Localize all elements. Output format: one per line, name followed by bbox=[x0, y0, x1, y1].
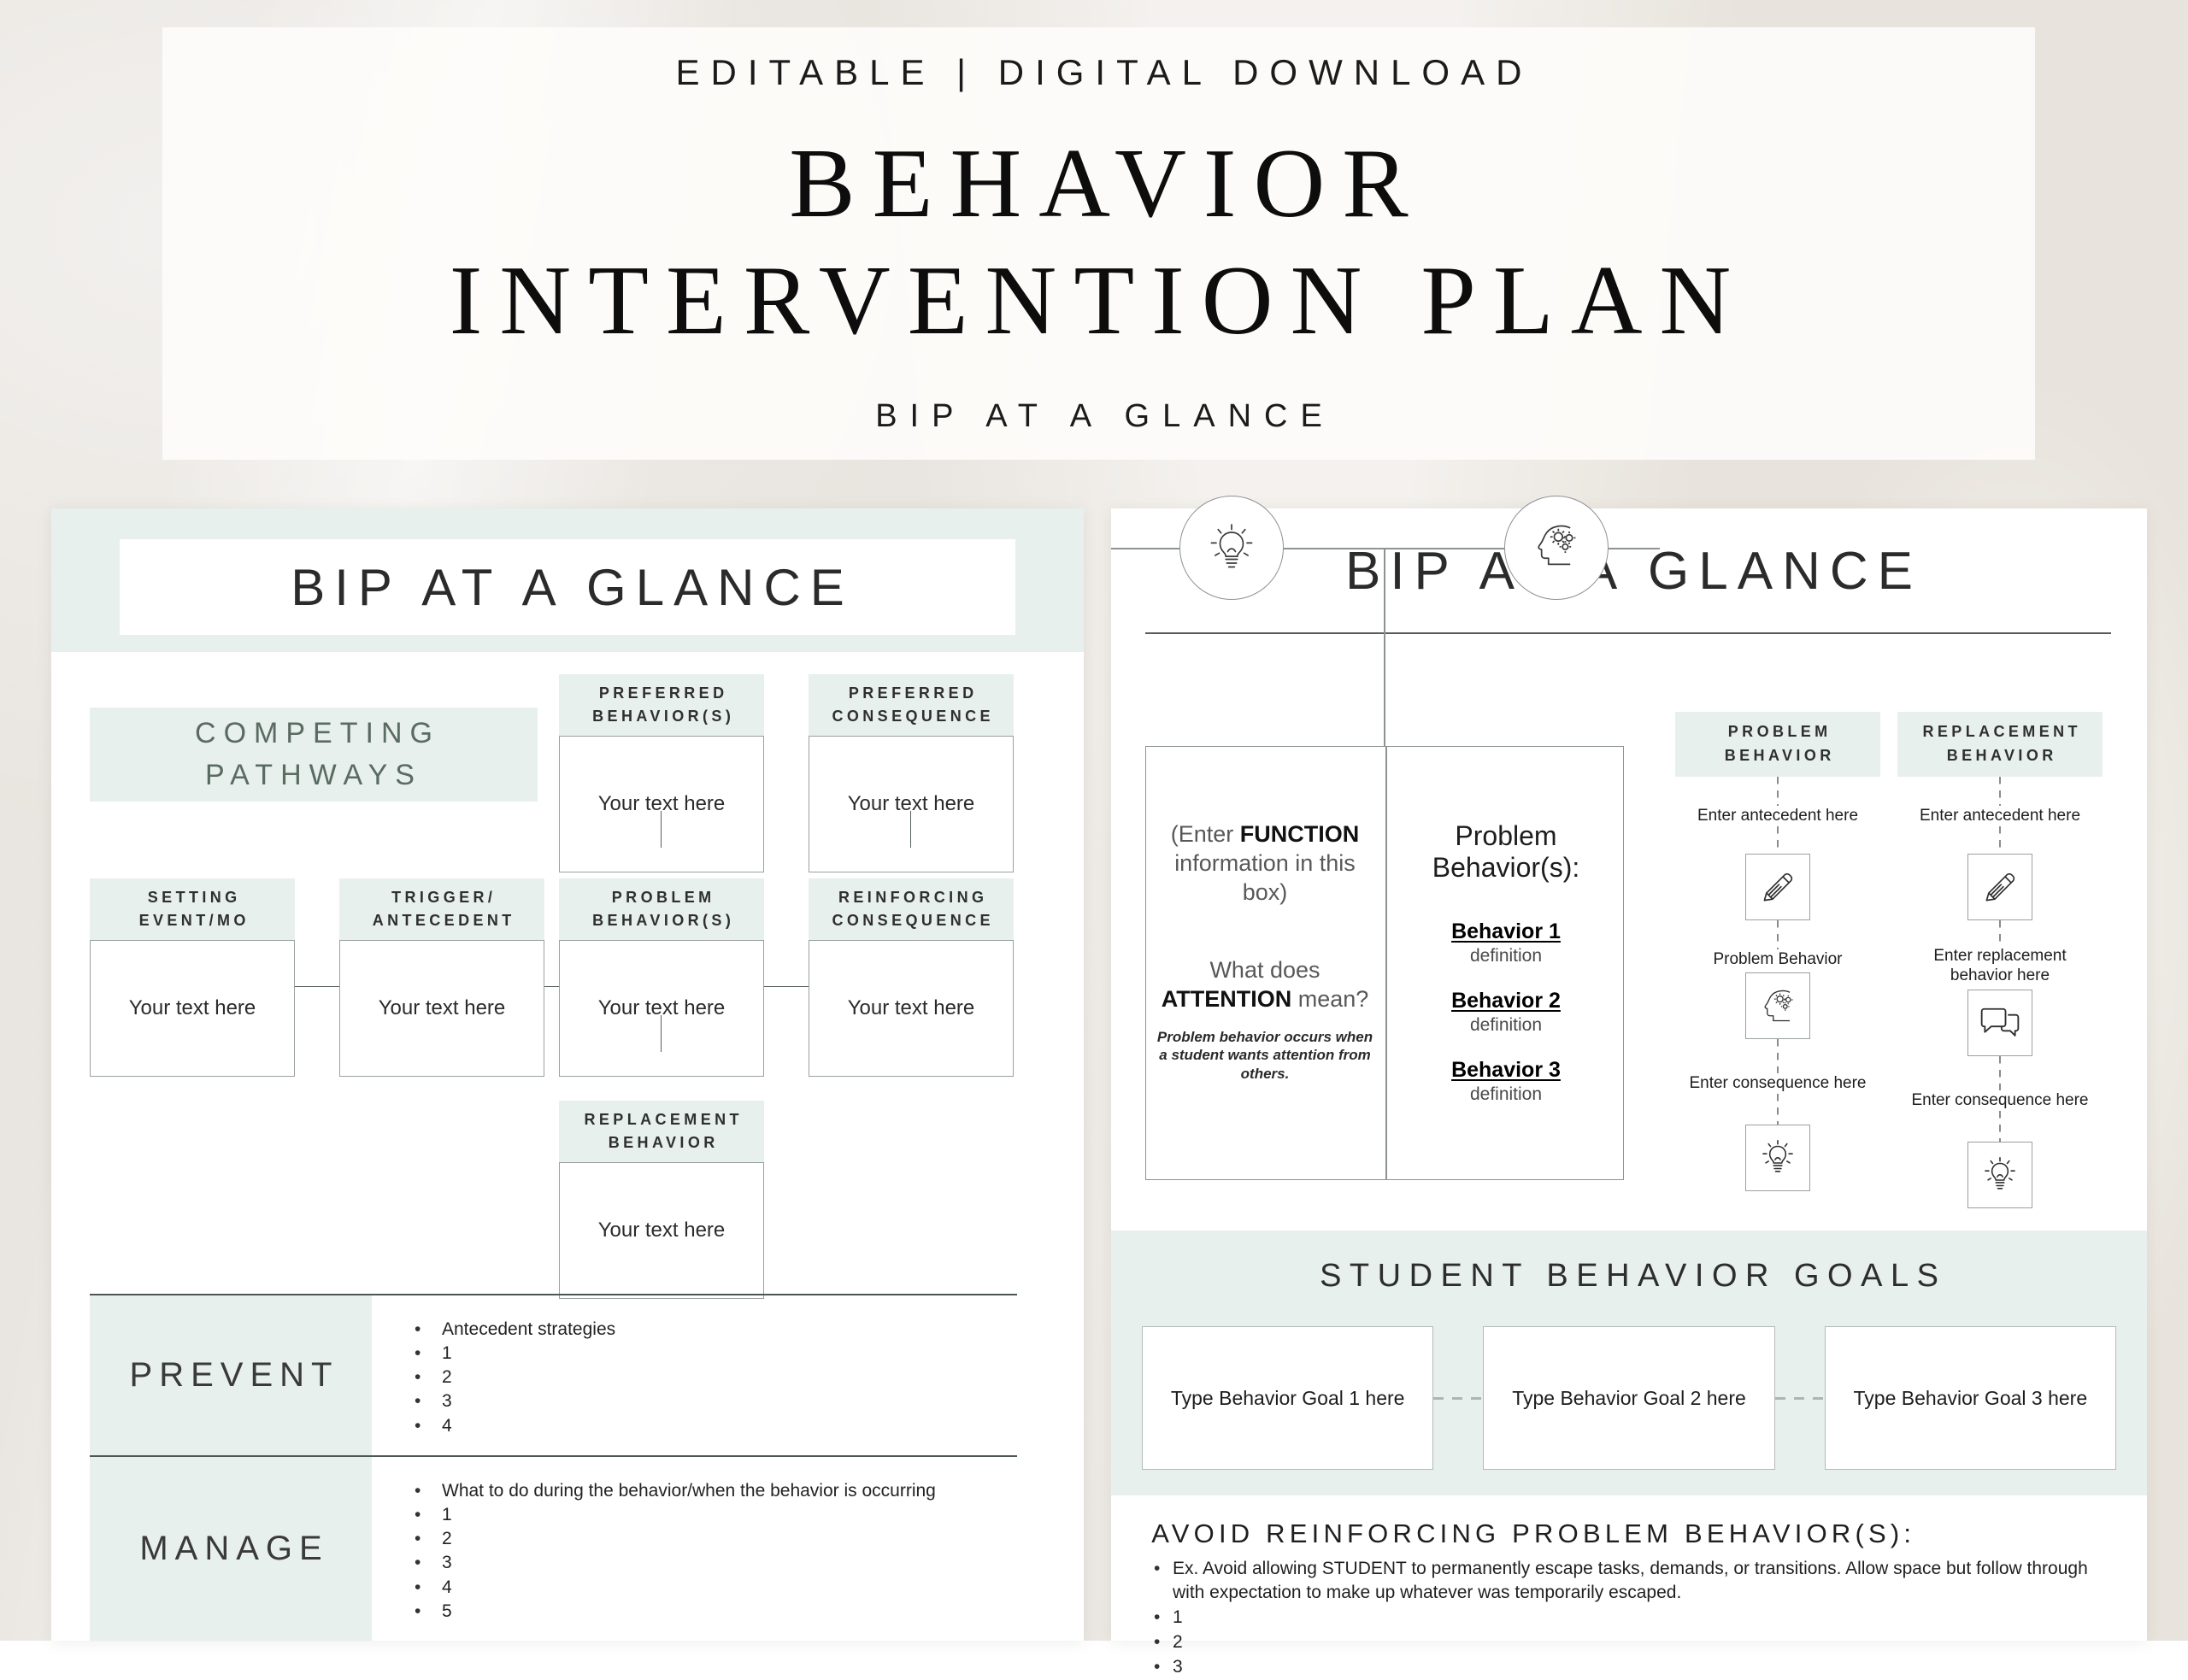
list-item[interactable]: 2 bbox=[408, 1527, 936, 1551]
behavior-name: Behavior 1 bbox=[1397, 919, 1615, 944]
problem-behaviors-heading: Problem Behavior(s): bbox=[1397, 820, 1615, 884]
function-prompt: (Enter FUNCTION information in this box) bbox=[1156, 820, 1373, 907]
function-prompt-pre: (Enter bbox=[1171, 821, 1240, 847]
pencil-icon bbox=[1745, 854, 1810, 920]
list-item[interactable]: 4 bbox=[408, 1414, 615, 1438]
list-item[interactable]: 1 bbox=[408, 1503, 936, 1527]
avoid-heading: AVOID REINFORCING PROBLEM BEHAVIOR(S): bbox=[1147, 1518, 2113, 1549]
goal-connector-dash bbox=[1433, 1397, 1483, 1400]
track-step[interactable]: Enter replacement behavior here bbox=[1897, 946, 2103, 987]
speech-bubbles-icon bbox=[1967, 990, 2032, 1056]
left-page-body: COMPETING PATHWAYS PREFERRED BEHAVIOR(S)… bbox=[51, 652, 1084, 1641]
panel-top-stem bbox=[1384, 548, 1385, 746]
left-page-title: BIP AT A GLANCE bbox=[281, 558, 854, 617]
preferred-behaviors-input[interactable]: Your text here bbox=[559, 736, 764, 872]
replacement-behavior-track: REPLACEMENT BEHAVIOR Enter antecedent he… bbox=[1897, 712, 2103, 1208]
preferred-consequence-input[interactable]: Your text here bbox=[809, 736, 1014, 872]
setting-event-caption: SETTING EVENT/MO bbox=[90, 878, 295, 940]
behavior-entry[interactable]: Behavior 3 definition bbox=[1397, 1058, 1615, 1105]
pencil-icon bbox=[1967, 854, 2032, 920]
behavior-entry[interactable]: Behavior 1 definition bbox=[1397, 919, 1615, 966]
dash-5 bbox=[1999, 1111, 2001, 1142]
list-item[interactable]: 3 bbox=[1147, 1655, 2113, 1679]
dash-1 bbox=[1999, 777, 2001, 806]
lightbulb-icon bbox=[1179, 496, 1284, 600]
avoid-list: Ex. Avoid allowing STUDENT to permanentl… bbox=[1147, 1557, 2113, 1679]
behavior-definition: definition bbox=[1397, 1015, 1615, 1036]
connector-trigger-to-problem bbox=[544, 986, 559, 987]
panel-center-arm bbox=[1284, 548, 1504, 549]
behavior-name: Behavior 2 bbox=[1397, 989, 1615, 1013]
left-page-title-bar: BIP AT A GLANCE bbox=[120, 539, 1015, 635]
dash-5 bbox=[1777, 1094, 1779, 1125]
avoid-reinforcing-section: AVOID REINFORCING PROBLEM BEHAVIOR(S): E… bbox=[1147, 1518, 2113, 1680]
connector-prefcons-to-reinf bbox=[910, 811, 911, 848]
trigger-antecedent-caption: TRIGGER/ ANTECEDENT bbox=[339, 878, 544, 940]
replacement-behavior-caption: REPLACEMENT BEHAVIOR bbox=[559, 1101, 764, 1162]
list-item: Ex. Avoid allowing STUDENT to permanentl… bbox=[1147, 1557, 2113, 1605]
prevent-label: PREVENT bbox=[90, 1295, 372, 1455]
function-note: Problem behavior occurs when a student w… bbox=[1156, 1028, 1373, 1083]
problem-behaviors-input[interactable]: Your text here bbox=[559, 940, 764, 1077]
panel-left-arm bbox=[1111, 548, 1179, 549]
behavior-entry[interactable]: Behavior 2 definition bbox=[1397, 989, 1615, 1036]
question-post: mean? bbox=[1291, 986, 1368, 1012]
right-page-rule bbox=[1145, 632, 2111, 634]
lightbulb-icon bbox=[1967, 1142, 2032, 1208]
panel-right-arm bbox=[1609, 548, 1660, 549]
banner-title: BEHAVIOR INTERVENTION PLAN bbox=[450, 126, 1749, 360]
behavior-definition: definition bbox=[1397, 1084, 1615, 1105]
list-item[interactable]: 2 bbox=[1147, 1630, 2113, 1654]
title-banner: EDITABLE | DIGITAL DOWNLOAD BEHAVIOR INT… bbox=[162, 27, 2035, 460]
connector-problem-to-reinforce bbox=[764, 986, 809, 987]
reinforcing-consequence-box[interactable]: REINFORCING CONSEQUENCE Your text here bbox=[809, 878, 1014, 1077]
function-prompt-post: information in this box) bbox=[1174, 850, 1356, 905]
track-step[interactable]: Enter consequence here bbox=[1897, 1090, 2103, 1111]
function-question: What does ATTENTION mean? bbox=[1156, 956, 1373, 1014]
preferred-consequence-caption: PREFERRED CONSEQUENCE bbox=[809, 674, 1014, 736]
function-behavior-panel: (Enter FUNCTION information in this box)… bbox=[1145, 746, 1624, 1180]
list-item[interactable]: 2 bbox=[408, 1366, 615, 1389]
list-item: Antecedent strategies bbox=[408, 1318, 615, 1342]
competing-pathways-label: COMPETING PATHWAYS bbox=[187, 713, 440, 797]
reinforcing-consequence-caption: REINFORCING CONSEQUENCE bbox=[809, 878, 1014, 940]
prevent-row: PREVENT Antecedent strategies 1 2 3 4 bbox=[90, 1295, 1017, 1455]
preferred-behaviors-caption: PREFERRED BEHAVIOR(S) bbox=[559, 674, 764, 736]
question-keyword: ATTENTION bbox=[1162, 986, 1291, 1012]
trigger-antecedent-box[interactable]: TRIGGER/ ANTECEDENT Your text here bbox=[339, 878, 544, 1077]
goals-row: Type Behavior Goal 1 here Type Behavior … bbox=[1142, 1326, 2116, 1470]
track-step[interactable]: Problem Behavior bbox=[1675, 949, 1880, 970]
connector-prefbeh-to-problem bbox=[661, 811, 662, 848]
dash-2 bbox=[1777, 826, 1779, 854]
list-item[interactable]: 3 bbox=[408, 1551, 936, 1575]
list-item: What to do during the behavior/when the … bbox=[408, 1479, 936, 1503]
connector-setting-to-trigger bbox=[295, 986, 339, 987]
dash-2 bbox=[1999, 826, 2001, 854]
list-item[interactable]: 5 bbox=[408, 1600, 936, 1624]
replacement-behavior-input[interactable]: Your text here bbox=[559, 1162, 764, 1299]
manage-label: MANAGE bbox=[90, 1457, 372, 1641]
manage-list: What to do during the behavior/when the … bbox=[408, 1479, 936, 1624]
prevent-list: Antecedent strategies 1 2 3 4 bbox=[408, 1318, 615, 1438]
replacement-behavior-track-header: REPLACEMENT BEHAVIOR bbox=[1897, 712, 2103, 777]
right-page: BIP AT A GLANCE (Enter FUNCTION informat… bbox=[1111, 508, 2147, 1641]
function-keyword: FUNCTION bbox=[1240, 821, 1359, 847]
replacement-behavior-box[interactable]: REPLACEMENT BEHAVIOR Your text here bbox=[559, 1101, 764, 1299]
competing-pathways-heading: COMPETING PATHWAYS bbox=[90, 708, 538, 802]
list-item[interactable]: 3 bbox=[408, 1389, 615, 1413]
connector-problem-to-replace bbox=[661, 1015, 662, 1052]
banner-eyebrow: EDITABLE | DIGITAL DOWNLOAD bbox=[665, 52, 1533, 93]
track-step[interactable]: Enter consequence here bbox=[1675, 1073, 1880, 1094]
dash-4 bbox=[1999, 1056, 2001, 1090]
dash-4 bbox=[1777, 1039, 1779, 1073]
problem-behavior-track-header: PROBLEM BEHAVIOR bbox=[1675, 712, 1880, 777]
list-item[interactable]: 1 bbox=[408, 1342, 615, 1366]
problem-behavior-track: PROBLEM BEHAVIOR Enter antecedent here P… bbox=[1675, 712, 1880, 1191]
track-step[interactable]: Enter antecedent here bbox=[1675, 806, 1880, 826]
problem-behaviors-caption: PROBLEM BEHAVIOR(S) bbox=[559, 878, 764, 940]
dash-1 bbox=[1777, 777, 1779, 806]
goals-title: STUDENT BEHAVIOR GOALS bbox=[1111, 1231, 2147, 1295]
problem-behaviors-column: Problem Behavior(s): Behavior 1 definiti… bbox=[1387, 820, 1625, 1105]
setting-event-input[interactable]: Your text here bbox=[90, 940, 295, 1077]
list-item[interactable]: 1 bbox=[1147, 1606, 2113, 1630]
banner-subtitle: BIP AT A GLANCE bbox=[862, 398, 1335, 435]
goal-card[interactable]: Type Behavior Goal 2 here bbox=[1483, 1326, 1774, 1470]
dash-3 bbox=[1999, 920, 2001, 946]
question-pre: What does bbox=[1209, 957, 1320, 983]
lightbulb-icon bbox=[1745, 1125, 1810, 1191]
trigger-antecedent-input[interactable]: Your text here bbox=[339, 940, 544, 1077]
left-page: BIP AT A GLANCE COMPETING PATHWAYS PREFE… bbox=[51, 508, 1084, 1641]
reinforcing-consequence-input[interactable]: Your text here bbox=[809, 940, 1014, 1077]
head-gears-icon bbox=[1504, 496, 1609, 600]
goal-connector-dash bbox=[1775, 1397, 1825, 1400]
student-behavior-goals-section: STUDENT BEHAVIOR GOALS Type Behavior Goa… bbox=[1111, 1231, 2147, 1495]
function-column: (Enter FUNCTION information in this box)… bbox=[1146, 820, 1384, 1083]
goal-card[interactable]: Type Behavior Goal 1 here bbox=[1142, 1326, 1433, 1470]
track-step[interactable]: Enter antecedent here bbox=[1897, 806, 2103, 826]
goal-card[interactable]: Type Behavior Goal 3 here bbox=[1825, 1326, 2116, 1470]
manage-row: MANAGE What to do during the behavior/wh… bbox=[90, 1457, 1017, 1641]
behavior-definition: definition bbox=[1397, 946, 1615, 966]
setting-event-box[interactable]: SETTING EVENT/MO Your text here bbox=[90, 878, 295, 1077]
list-item[interactable]: 4 bbox=[408, 1576, 936, 1600]
behavior-name: Behavior 3 bbox=[1397, 1058, 1615, 1083]
dash-3 bbox=[1777, 920, 1779, 949]
head-gears-icon bbox=[1745, 972, 1810, 1039]
